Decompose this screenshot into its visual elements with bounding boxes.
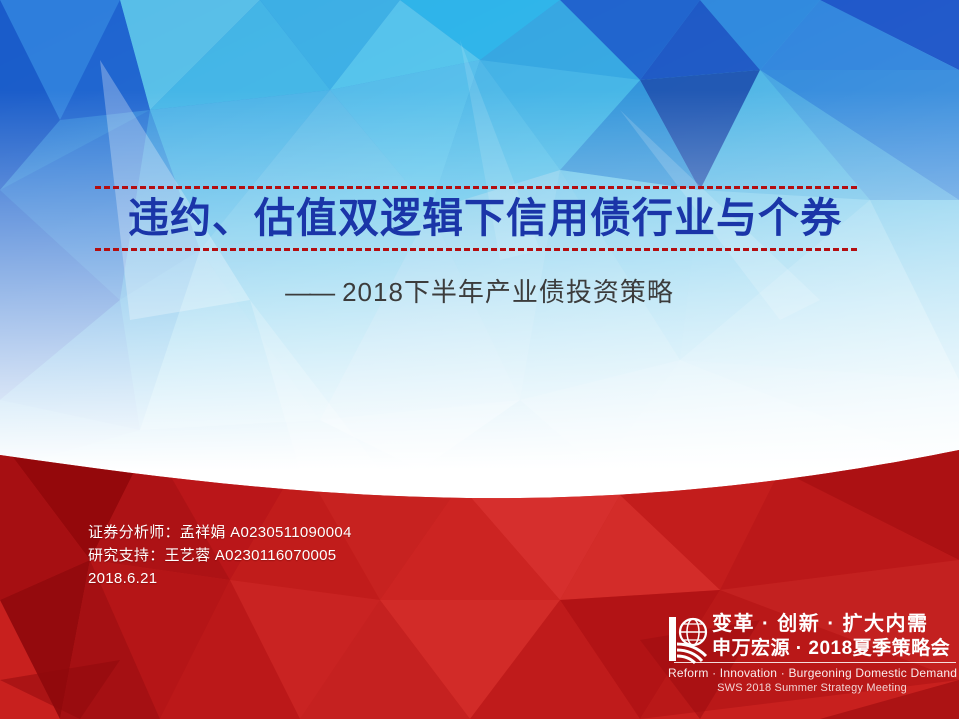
logo-slogan-en: Reform · Innovation · Burgeoning Domesti… (668, 665, 956, 681)
analyst-line: 证券分析师：孟祥娟 A0230511090004 (88, 521, 352, 544)
author-block: 证券分析师：孟祥娟 A0230511090004 研究支持：王艺蓉 A02301… (88, 521, 352, 590)
logo-event-cn: 申万宏源 · 2018夏季策略会 (712, 637, 956, 661)
logo-chinese-text: 变革 · 创新 · 扩大内需 申万宏源 · 2018夏季策略会 (712, 612, 956, 661)
logo-divider (674, 662, 956, 663)
logo-english-text: Reform · Innovation · Burgeoning Domesti… (668, 665, 956, 696)
page-title: 违约、估值双逻辑下信用债行业与个券 (95, 189, 857, 248)
research-support-line: 研究支持：王艺蓉 A0230116070005 (88, 544, 352, 567)
conference-logo-lockup: 变革 · 创新 · 扩大内需 申万宏源 · 2018夏季策略会 Reform ·… (668, 610, 956, 698)
title-bottom-dashed-rule (95, 248, 857, 251)
presentation-slide: 违约、估值双逻辑下信用债行业与个券 ——2018下半年产业债投资策略 证券分析师… (0, 0, 959, 719)
title-block: 违约、估值双逻辑下信用债行业与个券 (95, 186, 857, 251)
subtitle-emdash: —— (285, 277, 333, 307)
date-line: 2018.6.21 (88, 567, 352, 590)
logo-slogan-cn: 变革 · 创新 · 扩大内需 (712, 612, 956, 637)
page-subtitle: ——2018下半年产业债投资策略 (0, 272, 959, 309)
sws-globe-logo-icon (668, 614, 714, 664)
subtitle-text: 2018下半年产业债投资策略 (342, 277, 674, 307)
logo-event-en: SWS 2018 Summer Strategy Meeting (668, 681, 956, 696)
